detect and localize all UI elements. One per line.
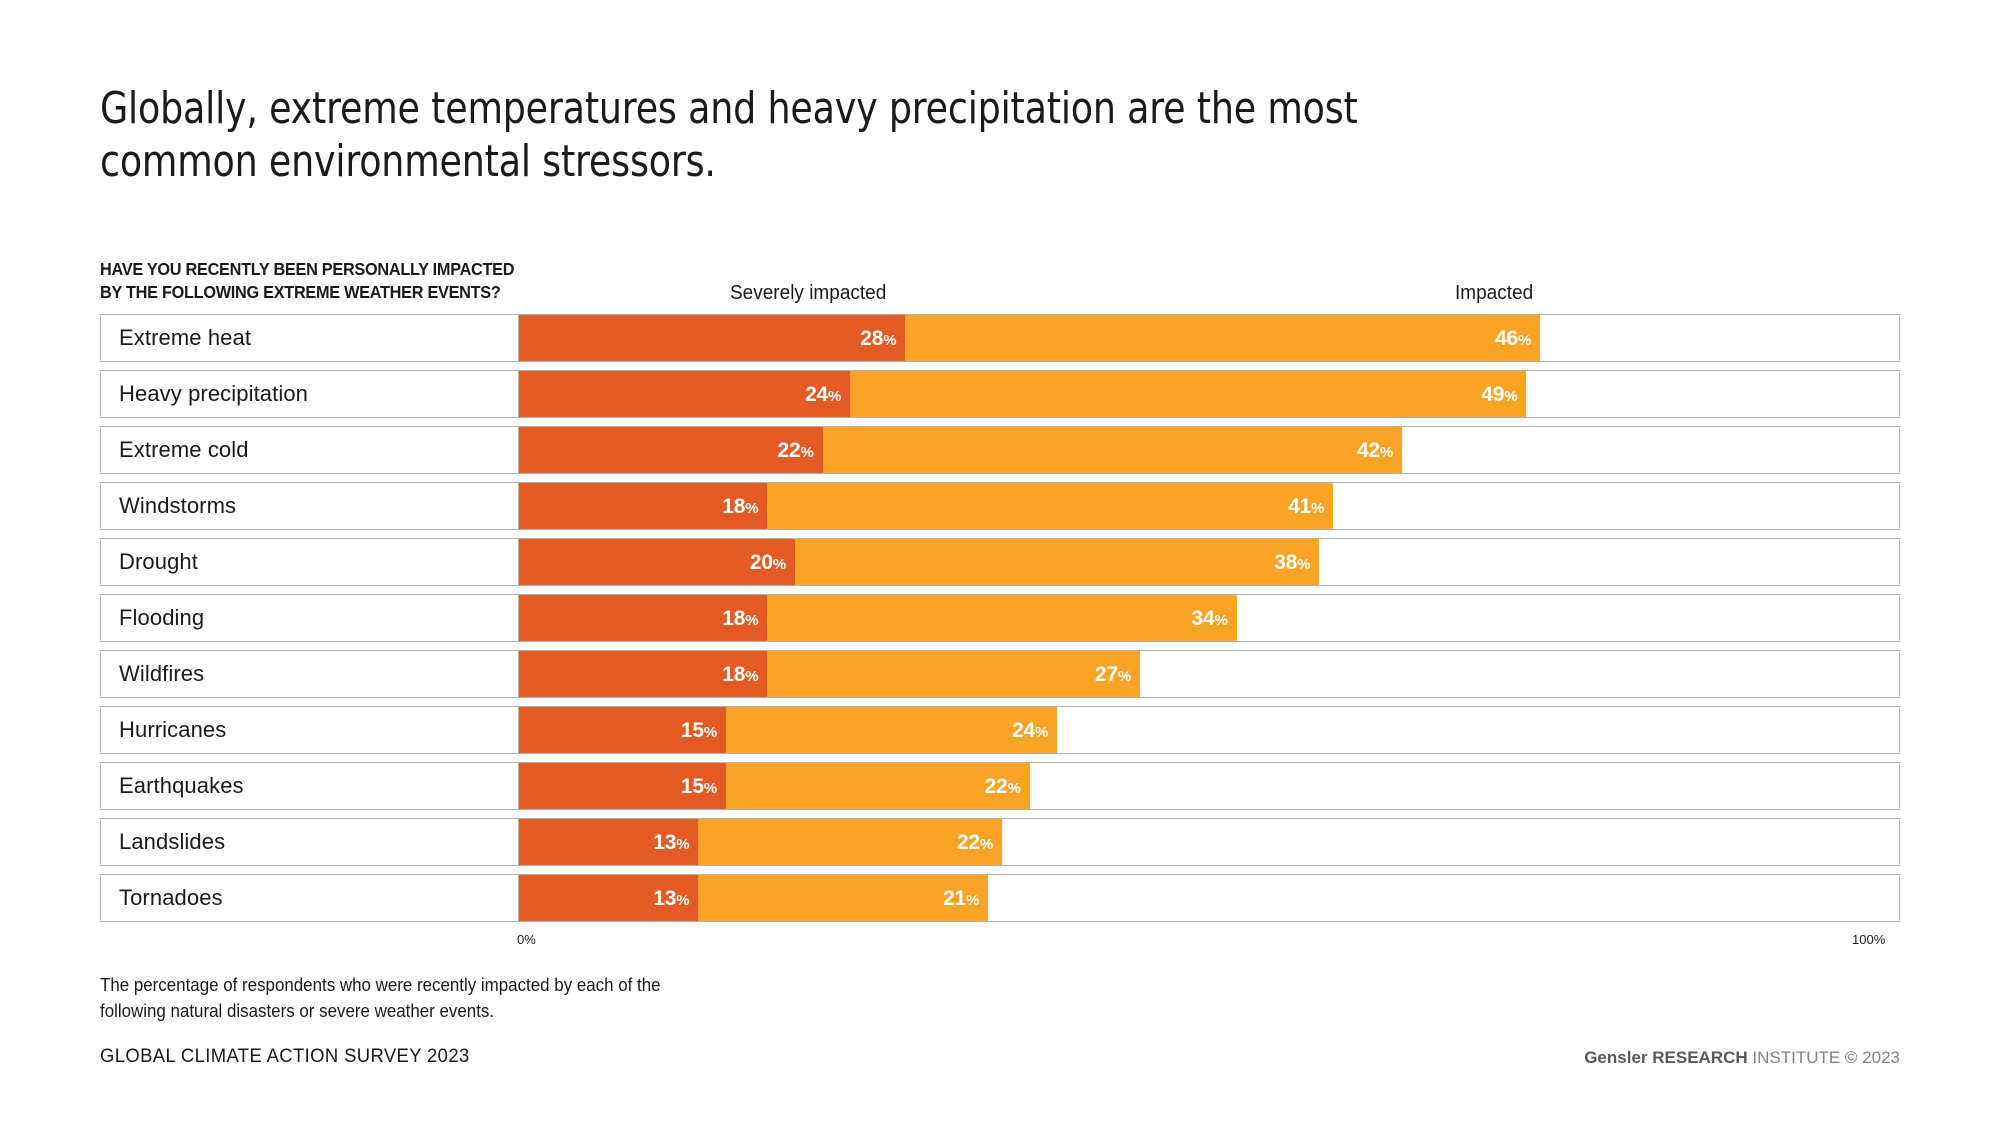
bar-value-number: 22 [957,831,980,854]
bar-value-impacted: 49% [1481,384,1517,405]
bar-value-severely-impacted: 22% [777,440,813,461]
bar-segment-impacted: 27% [767,651,1140,697]
bar-value-number: 13 [653,831,676,854]
row-label: Extreme cold [101,427,519,473]
bar-value-impacted: 34% [1191,608,1227,629]
percent-symbol: % [1311,500,1324,517]
bar-value-number: 34 [1191,607,1214,630]
bar-segment-severely-impacted: 18% [519,595,767,641]
percent-symbol: % [1214,612,1227,629]
bar-segment-impacted: 42% [823,427,1403,473]
bar-segment-severely-impacted: 24% [519,371,850,417]
bar-value-impacted: 46% [1495,328,1531,349]
row-label: Wildfires [101,651,519,697]
bar-value-number: 24 [805,383,828,406]
bar-segment-impacted: 41% [767,483,1333,529]
axis-tick-min: 0% [517,932,536,947]
footer-source: GLOBAL CLIMATE ACTION SURVEY 2023 [100,1046,470,1068]
bar-value-number: 18 [722,663,745,686]
bar-segment-severely-impacted: 20% [519,539,795,585]
row-label: Hurricanes [101,707,519,753]
bar-value-number: 20 [750,551,773,574]
percent-symbol: % [1297,556,1310,573]
bar-value-number: 13 [653,887,676,910]
chart-footnote: The percentage of respondents who were r… [100,972,777,1024]
row-bars: 15%22% [519,763,1899,809]
bar-value-severely-impacted: 18% [722,608,758,629]
row-bars: 15%24% [519,707,1899,753]
bar-value-number: 18 [722,495,745,518]
row-label: Heavy precipitation [101,371,519,417]
row-label: Earthquakes [101,763,519,809]
bar-value-severely-impacted: 18% [722,664,758,685]
bar-value-impacted: 41% [1288,496,1324,517]
row-bars: 18%34% [519,595,1899,641]
bar-value-number: 15 [681,775,704,798]
table-row: Extreme heat28%46% [100,314,1900,362]
row-label: Landslides [101,819,519,865]
bar-value-number: 21 [943,887,966,910]
legend-label-severely-impacted: Severely impacted [730,282,886,305]
footer-brand-rest: INSTITUTE © 2023 [1752,1048,1900,1067]
bar-segment-impacted: 22% [698,819,1002,865]
row-bars: 13%22% [519,819,1899,865]
bar-segment-severely-impacted: 18% [519,651,767,697]
bar-value-number: 46 [1495,327,1518,350]
bar-segment-impacted: 46% [905,315,1540,361]
bar-segment-impacted: 22% [726,763,1030,809]
footer-brand-name: Gensler RESEARCH [1584,1048,1747,1067]
bar-value-number: 18 [722,607,745,630]
percent-symbol: % [704,724,717,741]
bar-segment-severely-impacted: 15% [519,707,726,753]
row-bars: 18%41% [519,483,1899,529]
bar-value-severely-impacted: 18% [722,496,758,517]
row-bars: 24%49% [519,371,1899,417]
bar-value-severely-impacted: 15% [681,720,717,741]
bar-value-impacted: 38% [1274,552,1310,573]
table-row: Flooding18%34% [100,594,1900,642]
percent-symbol: % [1380,444,1393,461]
table-row: Drought20%38% [100,538,1900,586]
bar-value-impacted: 24% [1012,720,1048,741]
row-bars: 18%27% [519,651,1899,697]
stacked-bar-chart: Extreme heat28%46%Heavy precipitation24%… [100,314,1900,930]
percent-symbol: % [704,780,717,797]
row-label: Tornadoes [101,875,519,921]
percent-symbol: % [676,892,689,909]
row-label: Extreme heat [101,315,519,361]
row-label: Windstorms [101,483,519,529]
bar-value-impacted: 22% [984,776,1020,797]
percent-symbol: % [745,500,758,517]
bar-segment-impacted: 38% [795,539,1319,585]
percent-symbol: % [1118,668,1131,685]
row-bars: 22%42% [519,427,1899,473]
bar-segment-impacted: 49% [850,371,1526,417]
bar-value-impacted: 42% [1357,440,1393,461]
bar-value-impacted: 22% [957,832,993,853]
bar-value-severely-impacted: 13% [653,888,689,909]
bar-value-severely-impacted: 15% [681,776,717,797]
percent-symbol: % [883,332,896,349]
survey-question: HAVE YOU RECENTLY BEEN PERSONALLY IMPACT… [100,258,514,304]
table-row: Earthquakes15%22% [100,762,1900,810]
percent-symbol: % [828,388,841,405]
percent-symbol: % [980,836,993,853]
row-label: Drought [101,539,519,585]
row-bars: 20%38% [519,539,1899,585]
footer-branding: Gensler RESEARCH INSTITUTE © 2023 [1584,1048,1900,1068]
page-title: Globally, extreme temperatures and heavy… [100,82,1480,188]
table-row: Heavy precipitation24%49% [100,370,1900,418]
percent-symbol: % [1035,724,1048,741]
bar-value-impacted: 21% [943,888,979,909]
row-bars: 28%46% [519,315,1899,361]
bar-segment-impacted: 24% [726,707,1057,753]
percent-symbol: % [1007,780,1020,797]
bar-value-impacted: 27% [1095,664,1131,685]
bar-segment-severely-impacted: 13% [519,819,698,865]
bar-segment-impacted: 34% [767,595,1236,641]
bar-value-number: 41 [1288,495,1311,518]
chart-page: Globally, extreme temperatures and heavy… [0,0,2000,1125]
table-row: Landslides13%22% [100,818,1900,866]
table-row: Tornadoes13%21% [100,874,1900,922]
percent-symbol: % [1504,388,1517,405]
bar-segment-severely-impacted: 22% [519,427,823,473]
bar-value-number: 24 [1012,719,1035,742]
bar-segment-severely-impacted: 15% [519,763,726,809]
legend-label-impacted: Impacted [1455,282,1533,305]
bar-segment-impacted: 21% [698,875,988,921]
percent-symbol: % [773,556,786,573]
table-row: Extreme cold22%42% [100,426,1900,474]
table-row: Hurricanes15%24% [100,706,1900,754]
bar-value-severely-impacted: 20% [750,552,786,573]
bar-segment-severely-impacted: 28% [519,315,905,361]
bar-segment-severely-impacted: 13% [519,875,698,921]
table-row: Windstorms18%41% [100,482,1900,530]
bar-value-number: 42 [1357,439,1380,462]
percent-symbol: % [966,892,979,909]
bar-value-severely-impacted: 13% [653,832,689,853]
bar-value-severely-impacted: 24% [805,384,841,405]
bar-segment-severely-impacted: 18% [519,483,767,529]
bar-value-number: 49 [1481,383,1504,406]
bar-value-severely-impacted: 28% [860,328,896,349]
bar-value-number: 22 [777,439,800,462]
percent-symbol: % [800,444,813,461]
row-label: Flooding [101,595,519,641]
bar-value-number: 27 [1095,663,1118,686]
bar-value-number: 28 [860,327,883,350]
bar-value-number: 15 [681,719,704,742]
percent-symbol: % [745,612,758,629]
percent-symbol: % [676,836,689,853]
table-row: Wildfires18%27% [100,650,1900,698]
bar-value-number: 38 [1274,551,1297,574]
percent-symbol: % [1518,332,1531,349]
axis-tick-max: 100% [1852,932,1885,947]
row-bars: 13%21% [519,875,1899,921]
percent-symbol: % [745,668,758,685]
bar-value-number: 22 [984,775,1007,798]
